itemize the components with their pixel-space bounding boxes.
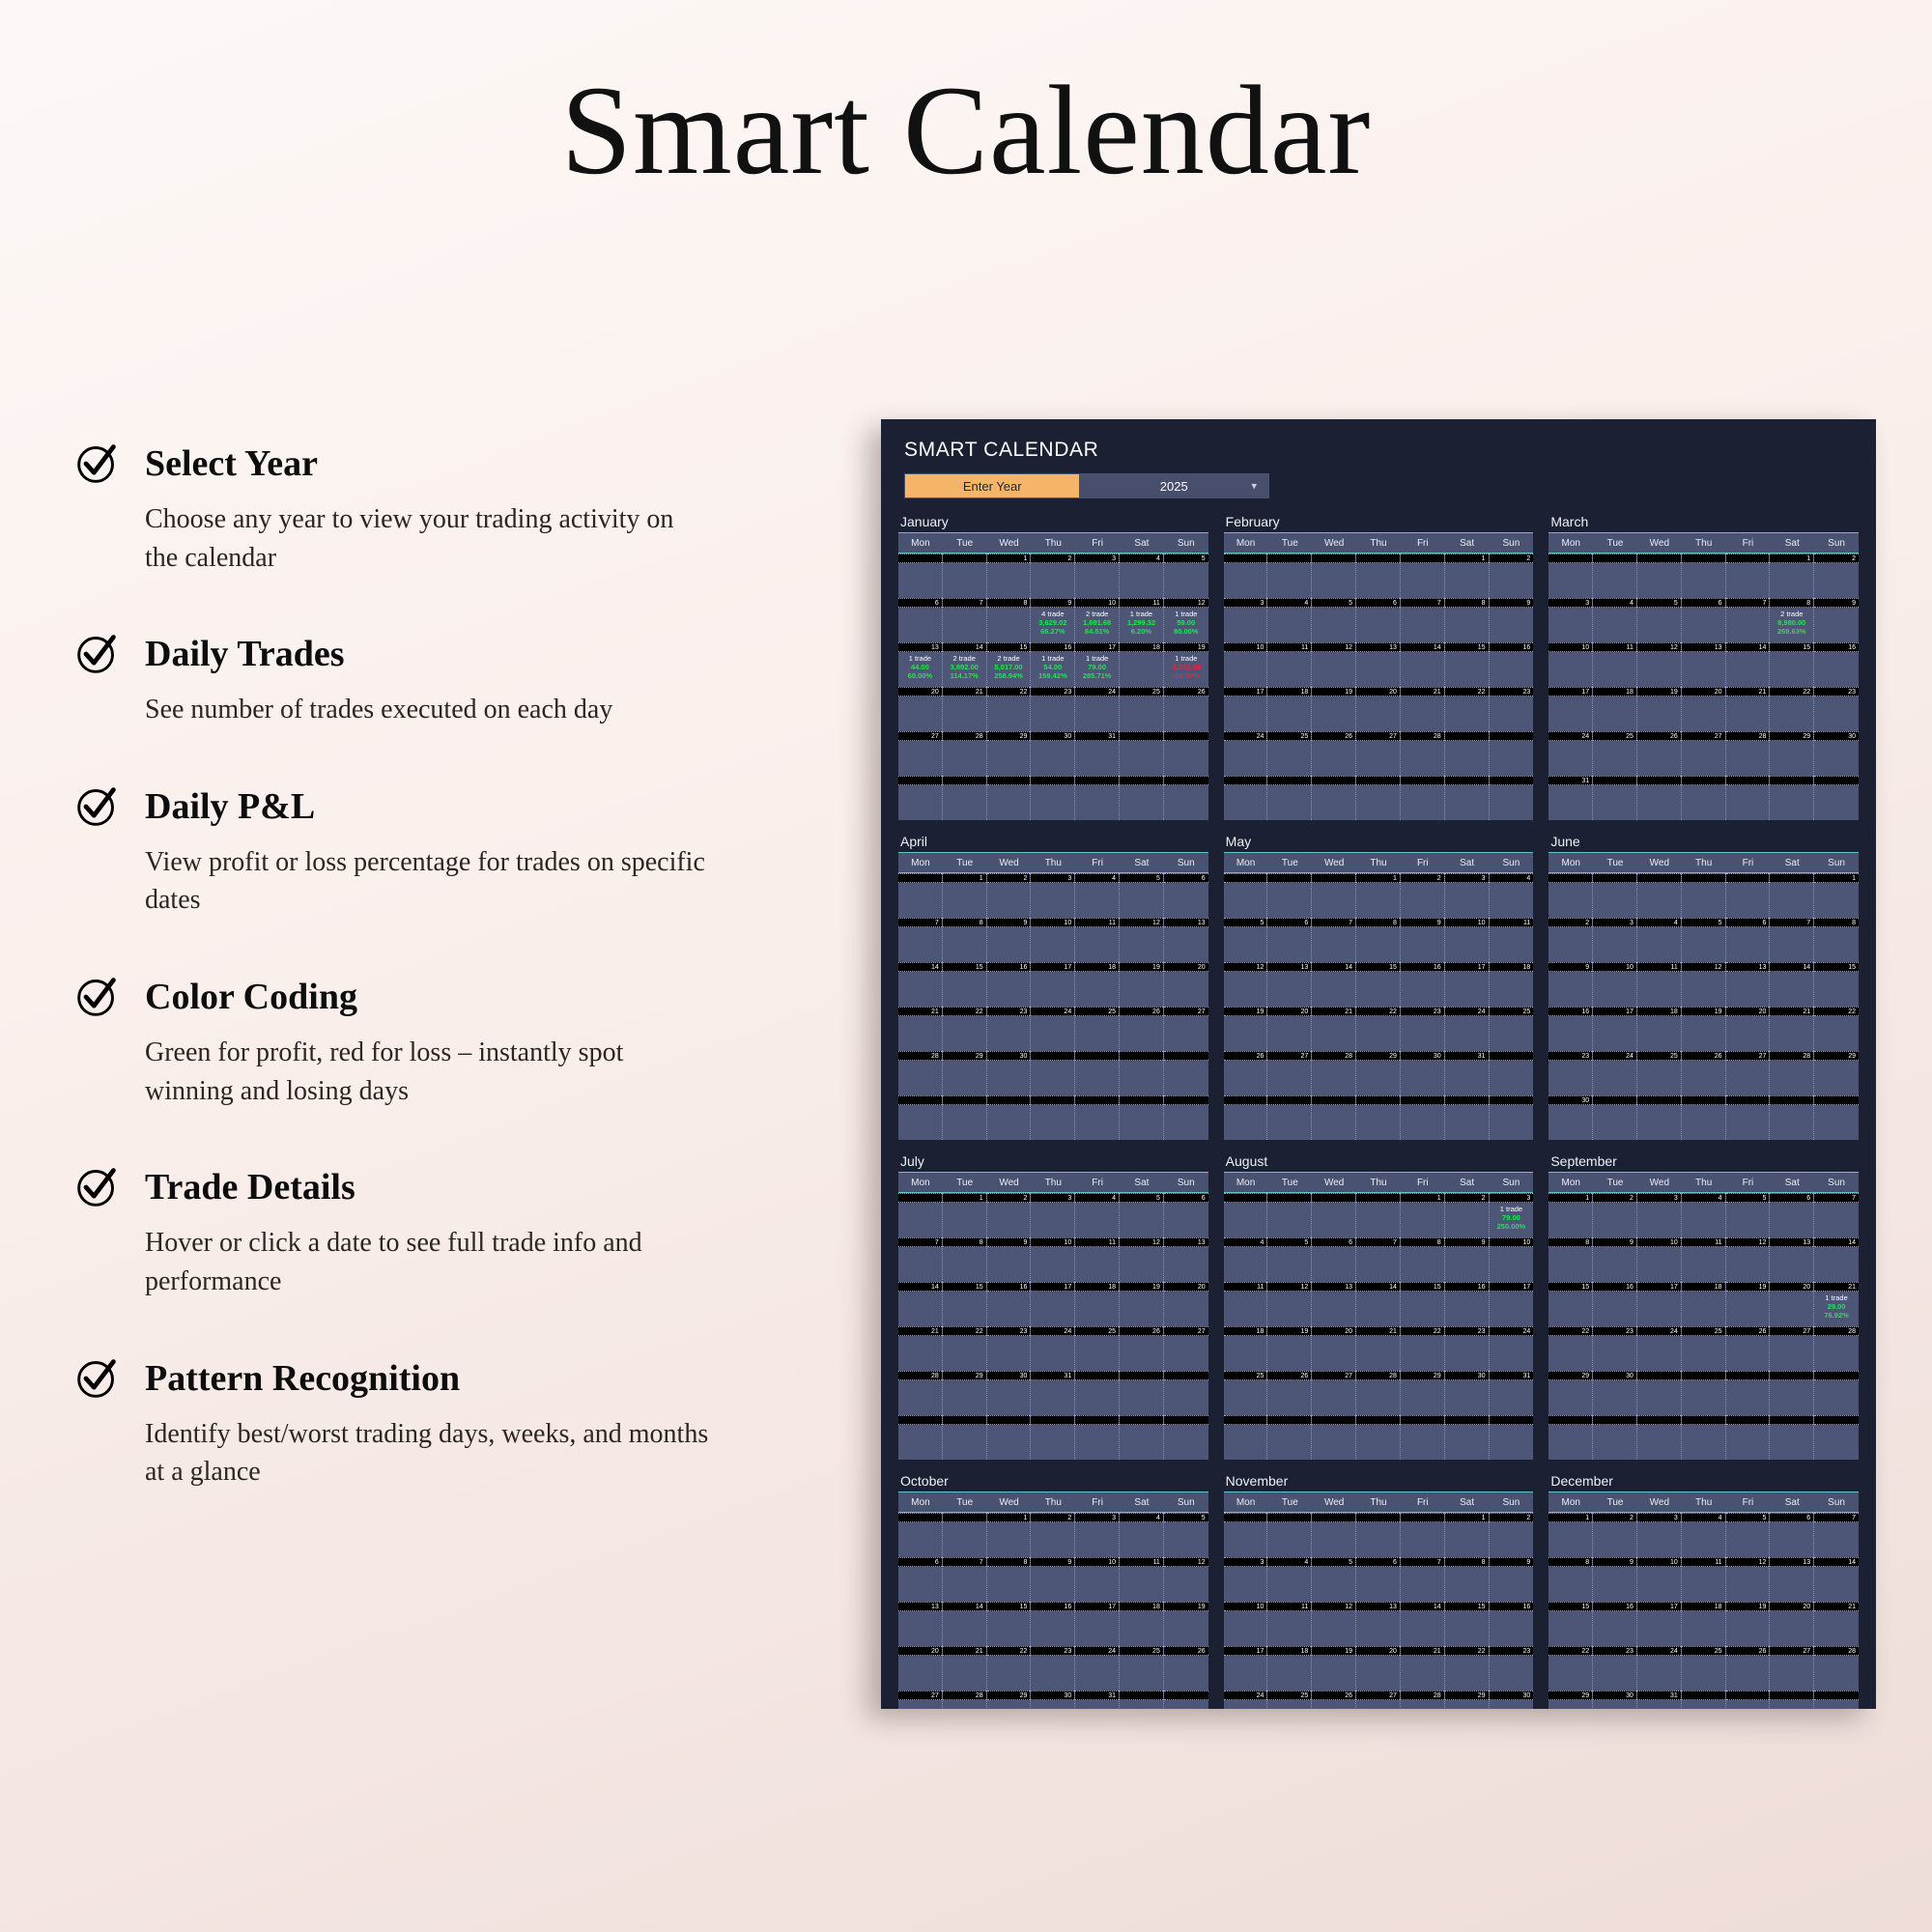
day-cell[interactable]: 6 — [1682, 598, 1726, 642]
day-cell[interactable]: 31 — [1075, 1690, 1120, 1709]
day-cell[interactable]: 152 trade5,017.00258.94% — [987, 642, 1032, 687]
day-cell[interactable]: 13 — [1726, 962, 1771, 1007]
day-cell[interactable]: 25 — [1267, 1690, 1312, 1709]
day-cell[interactable]: 30 — [987, 1371, 1032, 1415]
day-cell[interactable]: 9 — [1593, 1557, 1637, 1602]
day-cell[interactable]: 10 — [1031, 918, 1075, 962]
day-cell[interactable]: 22 — [1401, 1326, 1445, 1371]
day-cell[interactable]: 11 — [1682, 1237, 1726, 1282]
day-cell[interactable]: 22 — [1445, 687, 1490, 731]
day-cell[interactable]: 2 — [1031, 1513, 1075, 1557]
day-cell[interactable]: 1 — [987, 1513, 1032, 1557]
day-cell[interactable]: 18 — [1075, 1282, 1120, 1326]
day-cell[interactable]: 11 — [1593, 642, 1637, 687]
day-cell[interactable]: 191 trade-1,001.00-30.30% — [1164, 642, 1208, 687]
day-cell[interactable]: 19 — [1682, 1007, 1726, 1051]
day-cell[interactable]: 29 — [1401, 1371, 1445, 1415]
day-cell[interactable]: 131 trade44.0060.00% — [898, 642, 943, 687]
day-cell[interactable]: 1 — [1548, 1513, 1593, 1557]
day-cell[interactable]: 25 — [1490, 1007, 1534, 1051]
day-cell[interactable]: 1 — [1548, 1193, 1593, 1237]
day-cell[interactable]: 6 — [1164, 1193, 1208, 1237]
day-cell[interactable]: 15 — [1770, 642, 1814, 687]
day-cell[interactable]: 2 — [1031, 554, 1075, 598]
day-cell[interactable]: 25 — [1224, 1371, 1268, 1415]
day-cell[interactable]: 3 — [1075, 1513, 1120, 1557]
day-cell[interactable]: 26 — [1312, 1690, 1356, 1709]
day-cell[interactable]: 3 — [1224, 1557, 1268, 1602]
day-cell[interactable]: 2 — [1490, 1513, 1534, 1557]
day-cell[interactable]: 3 — [1548, 598, 1593, 642]
day-cell[interactable]: 10 — [1224, 642, 1268, 687]
day-cell[interactable]: 11 — [1682, 1557, 1726, 1602]
day-cell[interactable]: 9 — [1490, 598, 1534, 642]
day-cell[interactable]: 9 — [1548, 962, 1593, 1007]
day-cell[interactable]: 25 — [1120, 1646, 1164, 1690]
day-cell[interactable]: 15 — [1445, 642, 1490, 687]
day-cell[interactable]: 18 — [1120, 642, 1164, 687]
day-cell[interactable]: 13 — [1770, 1237, 1814, 1282]
day-cell[interactable]: 5 — [1267, 1237, 1312, 1282]
day-cell[interactable]: 11 — [1075, 918, 1120, 962]
day-cell[interactable]: 9 — [1031, 1557, 1075, 1602]
day-cell[interactable]: 6 — [1164, 873, 1208, 918]
day-cell[interactable]: 1 — [1445, 554, 1490, 598]
day-cell[interactable]: 25 — [1593, 731, 1637, 776]
day-cell[interactable]: 7 — [1814, 1513, 1859, 1557]
day-cell[interactable]: 14 — [1401, 1602, 1445, 1646]
day-cell[interactable]: 6 — [1356, 1557, 1401, 1602]
day-cell[interactable]: 21 — [943, 1646, 987, 1690]
day-cell[interactable]: 11 — [1267, 1602, 1312, 1646]
year-selector[interactable]: Enter Year 2025 ▾ — [904, 473, 1269, 498]
day-cell[interactable]: 26 — [1267, 1371, 1312, 1415]
day-cell[interactable]: 7 — [1726, 598, 1771, 642]
day-cell[interactable]: 27 — [1770, 1326, 1814, 1371]
day-cell[interactable]: 25 — [1075, 1007, 1120, 1051]
day-cell[interactable]: 23 — [1548, 1051, 1593, 1095]
day-cell[interactable]: 17 — [1075, 1602, 1120, 1646]
day-cell[interactable]: 27 — [1267, 1051, 1312, 1095]
day-cell[interactable]: 23 — [1445, 1326, 1490, 1371]
day-cell[interactable]: 6 — [898, 1557, 943, 1602]
day-cell[interactable]: 9 — [1593, 1237, 1637, 1282]
day-cell[interactable]: 16 — [1490, 642, 1534, 687]
day-cell[interactable]: 13 — [1164, 1237, 1208, 1282]
day-cell[interactable]: 29 — [1445, 1690, 1490, 1709]
day-cell[interactable]: 17 — [1637, 1602, 1682, 1646]
day-cell[interactable]: 8 — [1445, 1557, 1490, 1602]
day-cell[interactable]: 17 — [1593, 1007, 1637, 1051]
day-cell[interactable]: 9 — [987, 918, 1032, 962]
day-cell[interactable]: 10 — [1445, 918, 1490, 962]
day-cell[interactable]: 20 — [1312, 1326, 1356, 1371]
day-cell[interactable]: 31 — [1548, 776, 1593, 820]
day-cell[interactable]: 19 — [1267, 1326, 1312, 1371]
day-cell[interactable]: 18 — [1267, 687, 1312, 731]
day-cell[interactable]: 4 — [1593, 598, 1637, 642]
day-cell[interactable]: 22 — [987, 687, 1032, 731]
day-cell[interactable]: 28 — [1401, 731, 1445, 776]
day-cell[interactable]: 31 — [1445, 1051, 1490, 1095]
day-cell[interactable]: 4 — [1120, 554, 1164, 598]
day-cell[interactable]: 16 — [1445, 1282, 1490, 1326]
day-cell[interactable]: 7 — [1814, 1193, 1859, 1237]
day-cell[interactable]: 28 — [1726, 731, 1771, 776]
day-cell[interactable]: 11 — [1120, 1557, 1164, 1602]
day-cell[interactable]: 28 — [898, 1371, 943, 1415]
day-cell[interactable]: 8 — [987, 1557, 1032, 1602]
day-cell[interactable]: 3 — [1445, 873, 1490, 918]
day-cell[interactable]: 18 — [1075, 962, 1120, 1007]
day-cell[interactable]: 16 — [1401, 962, 1445, 1007]
day-cell[interactable]: 12 — [1120, 1237, 1164, 1282]
day-cell[interactable]: 8 — [943, 1237, 987, 1282]
day-cell[interactable]: 3 — [1031, 1193, 1075, 1237]
day-cell[interactable]: 13 — [1312, 1282, 1356, 1326]
day-cell[interactable]: 27 — [1356, 731, 1401, 776]
day-cell[interactable]: 27 — [1726, 1051, 1771, 1095]
day-cell[interactable]: 7 — [898, 918, 943, 962]
day-cell[interactable]: 21 — [1356, 1326, 1401, 1371]
day-cell[interactable]: 13 — [1682, 642, 1726, 687]
day-cell[interactable]: 28 — [1312, 1051, 1356, 1095]
day-cell[interactable]: 19 — [1120, 962, 1164, 1007]
day-cell[interactable]: 14 — [1770, 962, 1814, 1007]
day-cell[interactable]: 26 — [1120, 1007, 1164, 1051]
day-cell[interactable]: 4 — [1224, 1237, 1268, 1282]
day-cell[interactable]: 5 — [1164, 1513, 1208, 1557]
day-cell[interactable]: 5 — [1120, 873, 1164, 918]
day-cell[interactable]: 23 — [1593, 1646, 1637, 1690]
day-cell[interactable]: 30 — [1445, 1371, 1490, 1415]
day-cell[interactable]: 30 — [1031, 1690, 1075, 1709]
day-cell[interactable]: 14 — [1401, 642, 1445, 687]
day-cell[interactable]: 2 — [1814, 554, 1859, 598]
day-cell[interactable]: 16 — [1593, 1602, 1637, 1646]
day-cell[interactable]: 15 — [1814, 962, 1859, 1007]
day-cell[interactable]: 26 — [1312, 731, 1356, 776]
day-cell[interactable]: 22 — [1814, 1007, 1859, 1051]
day-cell[interactable]: 29 — [1548, 1690, 1593, 1709]
day-cell[interactable]: 82 trade8,980.00269.63% — [1770, 598, 1814, 642]
day-cell[interactable]: 27 — [898, 731, 943, 776]
day-cell[interactable]: 23 — [1401, 1007, 1445, 1051]
day-cell[interactable]: 23 — [987, 1326, 1032, 1371]
day-cell[interactable]: 20 — [1770, 1602, 1814, 1646]
day-cell[interactable]: 25 — [1682, 1326, 1726, 1371]
day-cell[interactable]: 161 trade54.00159.42% — [1031, 642, 1075, 687]
day-cell[interactable]: 1 — [987, 554, 1032, 598]
day-cell[interactable]: 24 — [1075, 1646, 1120, 1690]
day-cell[interactable]: 12 — [1267, 1282, 1312, 1326]
day-cell[interactable]: 2 — [987, 873, 1032, 918]
day-cell[interactable]: 29 — [1548, 1371, 1593, 1415]
day-cell[interactable]: 6 — [1770, 1193, 1814, 1237]
day-cell[interactable]: 24 — [1075, 687, 1120, 731]
day-cell[interactable]: 13 — [1356, 1602, 1401, 1646]
day-cell[interactable]: 26 — [1164, 687, 1208, 731]
day-cell[interactable]: 5 — [1682, 918, 1726, 962]
day-cell[interactable]: 111 trade1,299.326.20% — [1120, 598, 1164, 642]
day-cell[interactable]: 7 — [943, 1557, 987, 1602]
day-cell[interactable]: 171 trade79.00285.71% — [1075, 642, 1120, 687]
day-cell[interactable]: 31 — [1490, 1371, 1534, 1415]
day-cell[interactable]: 6 — [1726, 918, 1771, 962]
day-cell[interactable]: 29 — [1356, 1051, 1401, 1095]
day-cell[interactable]: 2 — [1593, 1193, 1637, 1237]
day-cell[interactable]: 20 — [1164, 1282, 1208, 1326]
day-cell[interactable]: 7 — [1356, 1237, 1401, 1282]
day-cell[interactable]: 16 — [1031, 1602, 1075, 1646]
day-cell[interactable]: 27 — [1356, 1690, 1401, 1709]
day-cell[interactable]: 22 — [1548, 1646, 1593, 1690]
day-cell[interactable]: 2 — [1401, 873, 1445, 918]
day-cell[interactable]: 18 — [1637, 1007, 1682, 1051]
day-cell[interactable]: 28 — [1814, 1326, 1859, 1371]
day-cell[interactable]: 30 — [1031, 731, 1075, 776]
day-cell[interactable]: 18 — [1682, 1282, 1726, 1326]
day-cell[interactable]: 21 — [1401, 1646, 1445, 1690]
day-cell[interactable]: 28 — [1356, 1371, 1401, 1415]
day-cell[interactable]: 15 — [1548, 1602, 1593, 1646]
day-cell[interactable]: 14 — [1814, 1557, 1859, 1602]
day-cell[interactable]: 142 trade3,892.00114.17% — [943, 642, 987, 687]
day-cell[interactable]: 21 — [1312, 1007, 1356, 1051]
day-cell[interactable]: 4 — [1637, 918, 1682, 962]
day-cell[interactable]: 121 trade59.0080.00% — [1164, 598, 1208, 642]
day-cell[interactable]: 30 — [1593, 1371, 1637, 1415]
day-cell[interactable]: 12 — [1312, 642, 1356, 687]
day-cell[interactable]: 15 — [1356, 962, 1401, 1007]
day-cell[interactable]: 4 — [1075, 1193, 1120, 1237]
day-cell[interactable]: 1 — [943, 1193, 987, 1237]
day-cell[interactable]: 12 — [1164, 1557, 1208, 1602]
day-cell[interactable]: 28 — [943, 731, 987, 776]
day-cell[interactable]: 21 — [1726, 687, 1771, 731]
day-cell[interactable]: 6 — [1770, 1513, 1814, 1557]
day-cell[interactable]: 15 — [1445, 1602, 1490, 1646]
day-cell[interactable]: 27 — [1164, 1326, 1208, 1371]
day-cell[interactable]: 7 — [1401, 598, 1445, 642]
day-cell[interactable]: 17 — [1031, 1282, 1075, 1326]
day-cell[interactable]: 24 — [1224, 731, 1268, 776]
day-cell[interactable]: 13 — [898, 1602, 943, 1646]
day-cell[interactable]: 19 — [1164, 1602, 1208, 1646]
day-cell[interactable]: 12 — [1120, 918, 1164, 962]
day-cell[interactable]: 23 — [1490, 1646, 1534, 1690]
day-cell[interactable]: 8 — [987, 598, 1032, 642]
day-cell[interactable]: 8 — [1814, 918, 1859, 962]
day-cell[interactable]: 19 — [1120, 1282, 1164, 1326]
day-cell[interactable]: 22 — [1356, 1007, 1401, 1051]
day-cell[interactable]: 18 — [1490, 962, 1534, 1007]
day-cell[interactable]: 4 — [1267, 1557, 1312, 1602]
day-cell[interactable]: 1 — [1445, 1513, 1490, 1557]
day-cell[interactable]: 1 — [1356, 873, 1401, 918]
day-cell[interactable]: 23 — [1031, 1646, 1075, 1690]
day-cell[interactable]: 10 — [1224, 1602, 1268, 1646]
day-cell[interactable]: 15 — [943, 1282, 987, 1326]
day-cell[interactable]: 3 — [1637, 1513, 1682, 1557]
year-value-dropdown[interactable]: 2025 ▾ — [1079, 474, 1268, 497]
day-cell[interactable]: 2 — [1548, 918, 1593, 962]
day-cell[interactable]: 18 — [1593, 687, 1637, 731]
day-cell[interactable]: 14 — [1356, 1282, 1401, 1326]
day-cell[interactable]: 3 — [1224, 598, 1268, 642]
day-cell[interactable]: 9 — [1401, 918, 1445, 962]
day-cell[interactable]: 10 — [1031, 1237, 1075, 1282]
day-cell[interactable]: 4 — [1682, 1513, 1726, 1557]
day-cell[interactable]: 13 — [1770, 1557, 1814, 1602]
day-cell[interactable]: 25 — [1682, 1646, 1726, 1690]
day-cell[interactable]: 20 — [1770, 1282, 1814, 1326]
day-cell[interactable]: 16 — [987, 962, 1032, 1007]
day-cell[interactable]: 24 — [1637, 1646, 1682, 1690]
day-cell[interactable]: 6 — [1356, 598, 1401, 642]
day-cell[interactable]: 5 — [1726, 1513, 1771, 1557]
day-cell[interactable]: 1 — [943, 873, 987, 918]
day-cell[interactable]: 22 — [1548, 1326, 1593, 1371]
day-cell[interactable]: 10 — [1075, 1557, 1120, 1602]
day-cell[interactable]: 211 trade29.0076.92% — [1814, 1282, 1859, 1326]
day-cell[interactable]: 25 — [1120, 687, 1164, 731]
day-cell[interactable]: 28 — [1814, 1646, 1859, 1690]
day-cell[interactable]: 24 — [1031, 1007, 1075, 1051]
day-cell[interactable]: 15 — [943, 962, 987, 1007]
day-cell[interactable]: 9 — [1814, 598, 1859, 642]
day-cell[interactable]: 27 — [1770, 1646, 1814, 1690]
day-cell[interactable]: 23 — [987, 1007, 1032, 1051]
day-cell[interactable]: 5 — [1726, 1193, 1771, 1237]
day-cell[interactable]: 24 — [1490, 1326, 1534, 1371]
day-cell[interactable]: 2 — [1593, 1513, 1637, 1557]
day-cell[interactable]: 21 — [1770, 1007, 1814, 1051]
day-cell[interactable]: 12 — [1637, 642, 1682, 687]
day-cell[interactable]: 30 — [1548, 1095, 1593, 1140]
day-cell[interactable]: 94 trade3,629.0266.27% — [1031, 598, 1075, 642]
day-cell[interactable]: 14 — [1814, 1237, 1859, 1282]
day-cell[interactable]: 8 — [1401, 1237, 1445, 1282]
day-cell[interactable]: 30 — [1593, 1690, 1637, 1709]
day-cell[interactable]: 17 — [1224, 687, 1268, 731]
day-cell[interactable]: 27 — [1164, 1007, 1208, 1051]
day-cell[interactable]: 24 — [1593, 1051, 1637, 1095]
day-cell[interactable]: 2 — [1490, 554, 1534, 598]
day-cell[interactable]: 5 — [1637, 598, 1682, 642]
day-cell[interactable]: 26 — [1120, 1326, 1164, 1371]
day-cell[interactable]: 24 — [1031, 1326, 1075, 1371]
day-cell[interactable]: 11 — [1075, 1237, 1120, 1282]
day-cell[interactable]: 19 — [1726, 1282, 1771, 1326]
day-cell[interactable]: 13 — [1267, 962, 1312, 1007]
day-cell[interactable]: 5 — [1312, 598, 1356, 642]
day-cell[interactable]: 17 — [1445, 962, 1490, 1007]
day-cell[interactable]: 9 — [987, 1237, 1032, 1282]
day-cell[interactable]: 7 — [1312, 918, 1356, 962]
day-cell[interactable]: 19 — [1312, 1646, 1356, 1690]
day-cell[interactable]: 10 — [1490, 1237, 1534, 1282]
day-cell[interactable]: 12 — [1726, 1557, 1771, 1602]
day-cell[interactable]: 7 — [1401, 1557, 1445, 1602]
day-cell[interactable]: 12 — [1312, 1602, 1356, 1646]
day-cell[interactable]: 23 — [1814, 687, 1859, 731]
day-cell[interactable]: 15 — [987, 1602, 1032, 1646]
day-cell[interactable]: 26 — [1726, 1326, 1771, 1371]
day-cell[interactable]: 18 — [1267, 1646, 1312, 1690]
day-cell[interactable]: 5 — [1312, 1557, 1356, 1602]
day-cell[interactable]: 24 — [1445, 1007, 1490, 1051]
day-cell[interactable]: 29 — [943, 1371, 987, 1415]
day-cell[interactable]: 24 — [1224, 1690, 1268, 1709]
day-cell[interactable]: 14 — [1726, 642, 1771, 687]
day-cell[interactable]: 3 — [1637, 1193, 1682, 1237]
day-cell[interactable]: 28 — [1401, 1690, 1445, 1709]
day-cell[interactable]: 23 — [1490, 687, 1534, 731]
day-cell[interactable]: 5 — [1164, 554, 1208, 598]
day-cell[interactable]: 30 — [1814, 731, 1859, 776]
day-cell[interactable]: 7 — [898, 1237, 943, 1282]
day-cell[interactable]: 6 — [898, 598, 943, 642]
day-cell[interactable]: 20 — [1356, 1646, 1401, 1690]
day-cell[interactable]: 8 — [1445, 598, 1490, 642]
day-cell[interactable]: 3 — [1031, 873, 1075, 918]
day-cell[interactable]: 17 — [1637, 1282, 1682, 1326]
day-cell[interactable]: 29 — [987, 731, 1032, 776]
day-cell[interactable]: 1 — [1770, 554, 1814, 598]
day-cell[interactable]: 26 — [1224, 1051, 1268, 1095]
day-cell[interactable]: 14 — [898, 1282, 943, 1326]
day-cell[interactable]: 10 — [1593, 962, 1637, 1007]
day-cell[interactable]: 28 — [943, 1690, 987, 1709]
day-cell[interactable]: 16 — [1593, 1282, 1637, 1326]
day-cell[interactable]: 10 — [1548, 642, 1593, 687]
day-cell[interactable]: 22 — [987, 1646, 1032, 1690]
day-cell[interactable]: 102 trade1,691.6884.51% — [1075, 598, 1120, 642]
day-cell[interactable]: 30 — [987, 1051, 1032, 1095]
day-cell[interactable]: 17 — [1548, 687, 1593, 731]
day-cell[interactable]: 26 — [1682, 1051, 1726, 1095]
day-cell[interactable]: 1 — [1401, 1193, 1445, 1237]
day-cell[interactable]: 22 — [1770, 687, 1814, 731]
day-cell[interactable]: 28 — [1770, 1051, 1814, 1095]
day-cell[interactable]: 31 — [1075, 731, 1120, 776]
day-cell[interactable]: 12 — [1224, 962, 1268, 1007]
day-cell[interactable]: 12 — [1682, 962, 1726, 1007]
day-cell[interactable]: 25 — [1267, 731, 1312, 776]
day-cell[interactable]: 22 — [943, 1326, 987, 1371]
day-cell[interactable]: 18 — [1120, 1602, 1164, 1646]
day-cell[interactable]: 27 — [1682, 731, 1726, 776]
day-cell[interactable]: 11 — [1637, 962, 1682, 1007]
day-cell[interactable]: 31 trade79.00250.00% — [1490, 1193, 1534, 1237]
day-cell[interactable]: 15 — [1401, 1282, 1445, 1326]
day-cell[interactable]: 28 — [898, 1051, 943, 1095]
day-cell[interactable]: 15 — [1548, 1282, 1593, 1326]
day-cell[interactable]: 14 — [943, 1602, 987, 1646]
day-cell[interactable]: 20 — [1726, 1007, 1771, 1051]
day-cell[interactable]: 5 — [1120, 1193, 1164, 1237]
day-cell[interactable]: 20 — [1356, 687, 1401, 731]
day-cell[interactable]: 26 — [1637, 731, 1682, 776]
day-cell[interactable]: 18 — [1682, 1602, 1726, 1646]
day-cell[interactable]: 3 — [1075, 554, 1120, 598]
day-cell[interactable]: 9 — [1490, 1557, 1534, 1602]
day-cell[interactable]: 4 — [1682, 1193, 1726, 1237]
day-cell[interactable]: 17 — [1224, 1646, 1268, 1690]
day-cell[interactable]: 22 — [1445, 1646, 1490, 1690]
day-cell[interactable]: 8 — [1548, 1237, 1593, 1282]
